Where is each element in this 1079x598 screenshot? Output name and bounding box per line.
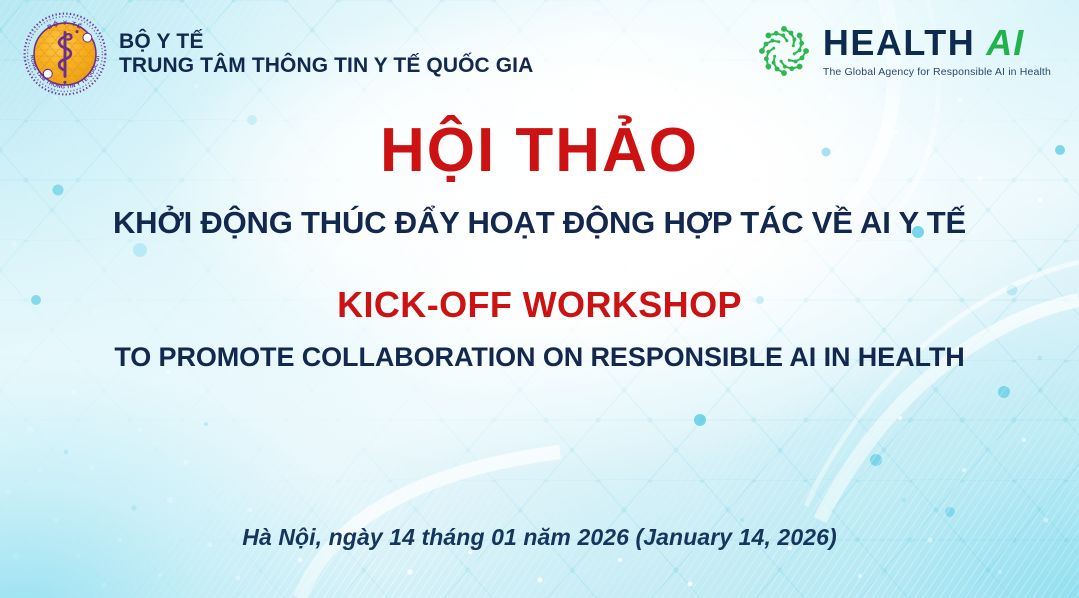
health-ai-branding: HEALTH AI The Global Agency for Responsi… — [755, 22, 1051, 80]
ministry-of-health-emblem-icon: BỘ Y TẾ TRUNG TÂM THÔNG TIN Y TẾ QUỐC GI… — [22, 11, 108, 97]
health-ai-swirl-icon — [755, 22, 813, 80]
slide-header: BỘ Y TẾ TRUNG TÂM THÔNG TIN Y TẾ QUỐC GI… — [0, 0, 1079, 100]
presentation-slide: BỘ Y TẾ TRUNG TÂM THÔNG TIN Y TẾ QUỐC GI… — [0, 0, 1079, 598]
health-ai-word-ai: AI — [986, 25, 1024, 61]
health-ai-tagline: The Global Agency for Responsible AI in … — [823, 66, 1051, 78]
ministry-line-1: BỘ Y TẾ — [119, 30, 533, 54]
ministry-of-health-text: BỘ Y TẾ TRUNG TÂM THÔNG TIN Y TẾ QUỐC GI… — [119, 30, 533, 79]
english-subtitle: TO PROMOTE COLLABORATION ON RESPONSIBLE … — [0, 342, 1079, 373]
ministry-of-health-branding: BỘ Y TẾ TRUNG TÂM THÔNG TIN Y TẾ QUỐC GI… — [22, 11, 533, 97]
english-main-title: KICK-OFF WORKSHOP — [0, 285, 1079, 325]
health-ai-word-health: HEALTH — [823, 25, 975, 61]
ministry-line-2: TRUNG TÂM THÔNG TIN Y TẾ QUỐC GIA — [119, 54, 533, 78]
vietnamese-main-title: HỘI THẢO — [0, 118, 1079, 183]
health-ai-wordmark-block: HEALTH AI The Global Agency for Responsi… — [823, 25, 1051, 78]
vietnamese-subtitle: KHỞI ĐỘNG THÚC ĐẨY HOẠT ĐỘNG HỢP TÁC VỀ … — [0, 205, 1079, 241]
event-date-location: Hà Nội, ngày 14 tháng 01 năm 2026 (Janua… — [0, 524, 1079, 551]
slide-title-block: HỘI THẢO KHỞI ĐỘNG THÚC ĐẨY HOẠT ĐỘNG HỢ… — [0, 118, 1079, 373]
health-ai-wordmark: HEALTH AI — [823, 25, 1051, 61]
